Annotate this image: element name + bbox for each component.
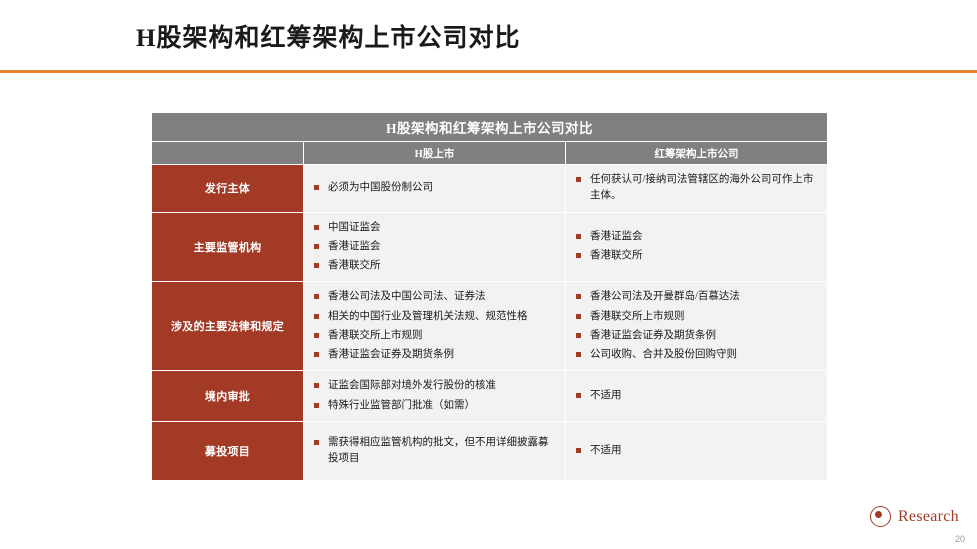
square-bullet-icon: [314, 440, 319, 445]
table-row: 涉及的主要法律和规定 香港公司法及中国公司法、证券法 相关的中国行业及管理机关法…: [152, 282, 828, 371]
list-item-text: 香港证监会: [590, 231, 643, 242]
list-item: 香港公司法及开曼群岛/百慕达法: [576, 289, 819, 305]
square-bullet-icon: [314, 185, 319, 190]
square-bullet-icon: [576, 314, 581, 319]
list-item: 任何获认可/接纳司法管辖区的海外公司可作上市主体。: [576, 172, 819, 205]
square-bullet-icon: [576, 333, 581, 338]
square-bullet-icon: [314, 244, 319, 249]
list-item: 香港公司法及中国公司法、证券法: [314, 289, 557, 305]
square-bullet-icon: [576, 234, 581, 239]
list-item-text: 相关的中国行业及管理机关法规、规范性格: [328, 311, 528, 322]
bullet-list: 必须为中国股份制公司: [314, 180, 557, 196]
list-item-text: 任何获认可/接纳司法管辖区的海外公司可作上市主体。: [590, 174, 813, 201]
cell-h-share: 中国证监会 香港证监会 香港联交所: [304, 212, 566, 282]
cell-h-share: 需获得相应监管机构的批文，但不用详细披露募投项目: [304, 421, 566, 480]
bullet-list: 中国证监会 香港证监会 香港联交所: [314, 220, 557, 275]
list-item-text: 必须为中国股份制公司: [328, 182, 433, 193]
cell-red-chip: 不适用: [566, 421, 828, 480]
square-bullet-icon: [314, 225, 319, 230]
page-title: H股架构和红筹架构上市公司对比: [136, 18, 520, 54]
table-caption: H股架构和红筹架构上市公司对比: [152, 113, 828, 142]
square-bullet-icon: [314, 263, 319, 268]
cell-red-chip: 不适用: [566, 371, 828, 422]
cell-red-chip: 香港证监会 香港联交所: [566, 212, 828, 282]
row-label: 境内审批: [152, 371, 304, 422]
list-item-text: 不适用: [590, 445, 622, 456]
list-item: 香港联交所上市规则: [314, 328, 557, 344]
square-bullet-icon: [576, 177, 581, 182]
title-divider: [0, 70, 977, 73]
list-item: 香港联交所上市规则: [576, 309, 819, 325]
bullet-list: 香港公司法及开曼群岛/百慕达法 香港联交所上市规则 香港证监会证券及期货条例 公…: [576, 289, 819, 363]
bullet-list: 证监会国际部对境外发行股份的核准 特殊行业监管部门批准（如需）: [314, 378, 557, 414]
list-item: 香港联交所: [576, 248, 819, 264]
list-item-text: 香港证监会: [328, 241, 381, 252]
cell-red-chip: 任何获认可/接纳司法管辖区的海外公司可作上市主体。: [566, 165, 828, 213]
page-number: 20: [955, 534, 965, 544]
square-bullet-icon: [576, 253, 581, 258]
list-item: 香港证监会: [576, 229, 819, 245]
list-item-text: 香港联交所上市规则: [328, 330, 423, 341]
list-item-text: 证监会国际部对境外发行股份的核准: [328, 380, 496, 391]
list-item: 香港证监会证券及期货条例: [576, 328, 819, 344]
list-item-text: 香港联交所: [590, 250, 643, 261]
list-item: 特殊行业监管部门批准（如需）: [314, 398, 557, 414]
list-item-text: 需获得相应监管机构的批文，但不用详细披露募投项目: [328, 437, 549, 464]
list-item-text: 公司收购、合并及股份回购守则: [590, 349, 737, 360]
list-item: 需获得相应监管机构的批文，但不用详细披露募投项目: [314, 435, 557, 468]
list-item-text: 香港证监会证券及期货条例: [590, 330, 716, 341]
bullet-list: 任何获认可/接纳司法管辖区的海外公司可作上市主体。: [576, 172, 819, 205]
list-item: 香港证监会: [314, 239, 557, 255]
list-item-text: 香港公司法及中国公司法、证券法: [328, 291, 486, 302]
square-bullet-icon: [314, 294, 319, 299]
row-label: 发行主体: [152, 165, 304, 213]
list-item-text: 特殊行业监管部门批准（如需）: [328, 400, 475, 411]
row-label: 主要监管机构: [152, 212, 304, 282]
bullet-list: 不适用: [576, 388, 819, 404]
table-row: 境内审批 证监会国际部对境外发行股份的核准 特殊行业监管部门批准（如需） 不适用: [152, 371, 828, 422]
table-caption-row: H股架构和红筹架构上市公司对比: [152, 113, 828, 142]
table-header-h-share: H股上市: [304, 142, 566, 165]
list-item-text: 香港证监会证券及期货条例: [328, 349, 454, 360]
list-item: 不适用: [576, 443, 819, 459]
row-label: 涉及的主要法律和规定: [152, 282, 304, 371]
list-item-text: 香港联交所: [328, 260, 381, 271]
bullet-list: 需获得相应监管机构的批文，但不用详细披露募投项目: [314, 435, 557, 468]
bullet-list: 香港证监会 香港联交所: [576, 229, 819, 265]
list-item-text: 中国证监会: [328, 222, 381, 233]
square-bullet-icon: [576, 448, 581, 453]
square-bullet-icon: [576, 352, 581, 357]
table-header-corner: [152, 142, 304, 165]
table-header-red-chip: 红筹架构上市公司: [566, 142, 828, 165]
list-item-text: 香港公司法及开曼群岛/百慕达法: [590, 291, 740, 302]
list-item: 中国证监会: [314, 220, 557, 236]
list-item: 证监会国际部对境外发行股份的核准: [314, 378, 557, 394]
square-bullet-icon: [314, 383, 319, 388]
list-item-text: 不适用: [590, 390, 622, 401]
list-item-text: 香港联交所上市规则: [590, 311, 685, 322]
square-bullet-icon: [314, 352, 319, 357]
row-label: 募投项目: [152, 421, 304, 480]
table-row: 主要监管机构 中国证监会 香港证监会 香港联交所 香港证监会 香港联交所: [152, 212, 828, 282]
square-bullet-icon: [314, 314, 319, 319]
square-bullet-icon: [314, 333, 319, 338]
list-item: 公司收购、合并及股份回购守则: [576, 347, 819, 363]
cell-h-share: 证监会国际部对境外发行股份的核准 特殊行业监管部门批准（如需）: [304, 371, 566, 422]
brand-text: Research: [898, 508, 959, 526]
comparison-table: H股架构和红筹架构上市公司对比 H股上市 红筹架构上市公司 发行主体 必须为中国…: [151, 112, 828, 481]
square-bullet-icon: [576, 393, 581, 398]
bullet-list: 不适用: [576, 443, 819, 459]
cell-red-chip: 香港公司法及开曼群岛/百慕达法 香港联交所上市规则 香港证监会证券及期货条例 公…: [566, 282, 828, 371]
cell-h-share: 必须为中国股份制公司: [304, 165, 566, 213]
list-item: 不适用: [576, 388, 819, 404]
cell-h-share: 香港公司法及中国公司法、证券法 相关的中国行业及管理机关法规、规范性格 香港联交…: [304, 282, 566, 371]
square-bullet-icon: [576, 294, 581, 299]
list-item: 必须为中国股份制公司: [314, 180, 557, 196]
table-header-row: H股上市 红筹架构上市公司: [152, 142, 828, 165]
bullet-list: 香港公司法及中国公司法、证券法 相关的中国行业及管理机关法规、规范性格 香港联交…: [314, 289, 557, 363]
list-item: 相关的中国行业及管理机关法规、规范性格: [314, 309, 557, 325]
table-row: 发行主体 必须为中国股份制公司 任何获认可/接纳司法管辖区的海外公司可作上市主体…: [152, 165, 828, 213]
footer-brand: Research: [870, 506, 959, 527]
circle-logo-icon: [870, 506, 891, 527]
square-bullet-icon: [314, 403, 319, 408]
table-row: 募投项目 需获得相应监管机构的批文，但不用详细披露募投项目 不适用: [152, 421, 828, 480]
comparison-table-container: H股架构和红筹架构上市公司对比 H股上市 红筹架构上市公司 发行主体 必须为中国…: [151, 112, 827, 481]
list-item: 香港联交所: [314, 258, 557, 274]
list-item: 香港证监会证券及期货条例: [314, 347, 557, 363]
